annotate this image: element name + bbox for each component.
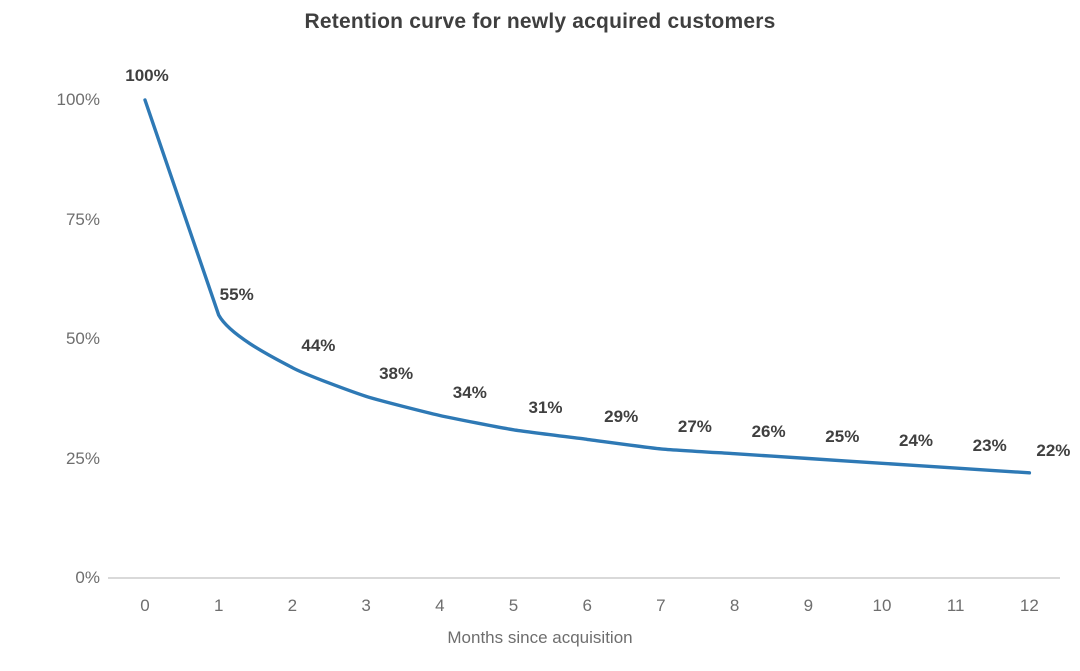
data-point-label: 22% [1036, 441, 1070, 461]
data-point-label: 44% [301, 336, 335, 356]
data-point-label: 38% [379, 364, 413, 384]
data-point-label: 55% [220, 285, 254, 305]
plot-area [0, 0, 1080, 671]
data-point-label: 24% [899, 431, 933, 451]
retention-series-line [145, 100, 1029, 473]
retention-curve-chart: Retention curve for newly acquired custo… [0, 0, 1080, 671]
data-point-label: 29% [604, 407, 638, 427]
data-point-label: 34% [453, 383, 487, 403]
data-point-label: 23% [973, 436, 1007, 456]
data-point-label: 26% [752, 422, 786, 442]
data-point-label: 31% [528, 398, 562, 418]
data-point-label: 100% [125, 66, 168, 86]
data-point-label: 25% [825, 427, 859, 447]
data-point-label: 27% [678, 417, 712, 437]
x-axis-title: Months since acquisition [0, 628, 1080, 648]
